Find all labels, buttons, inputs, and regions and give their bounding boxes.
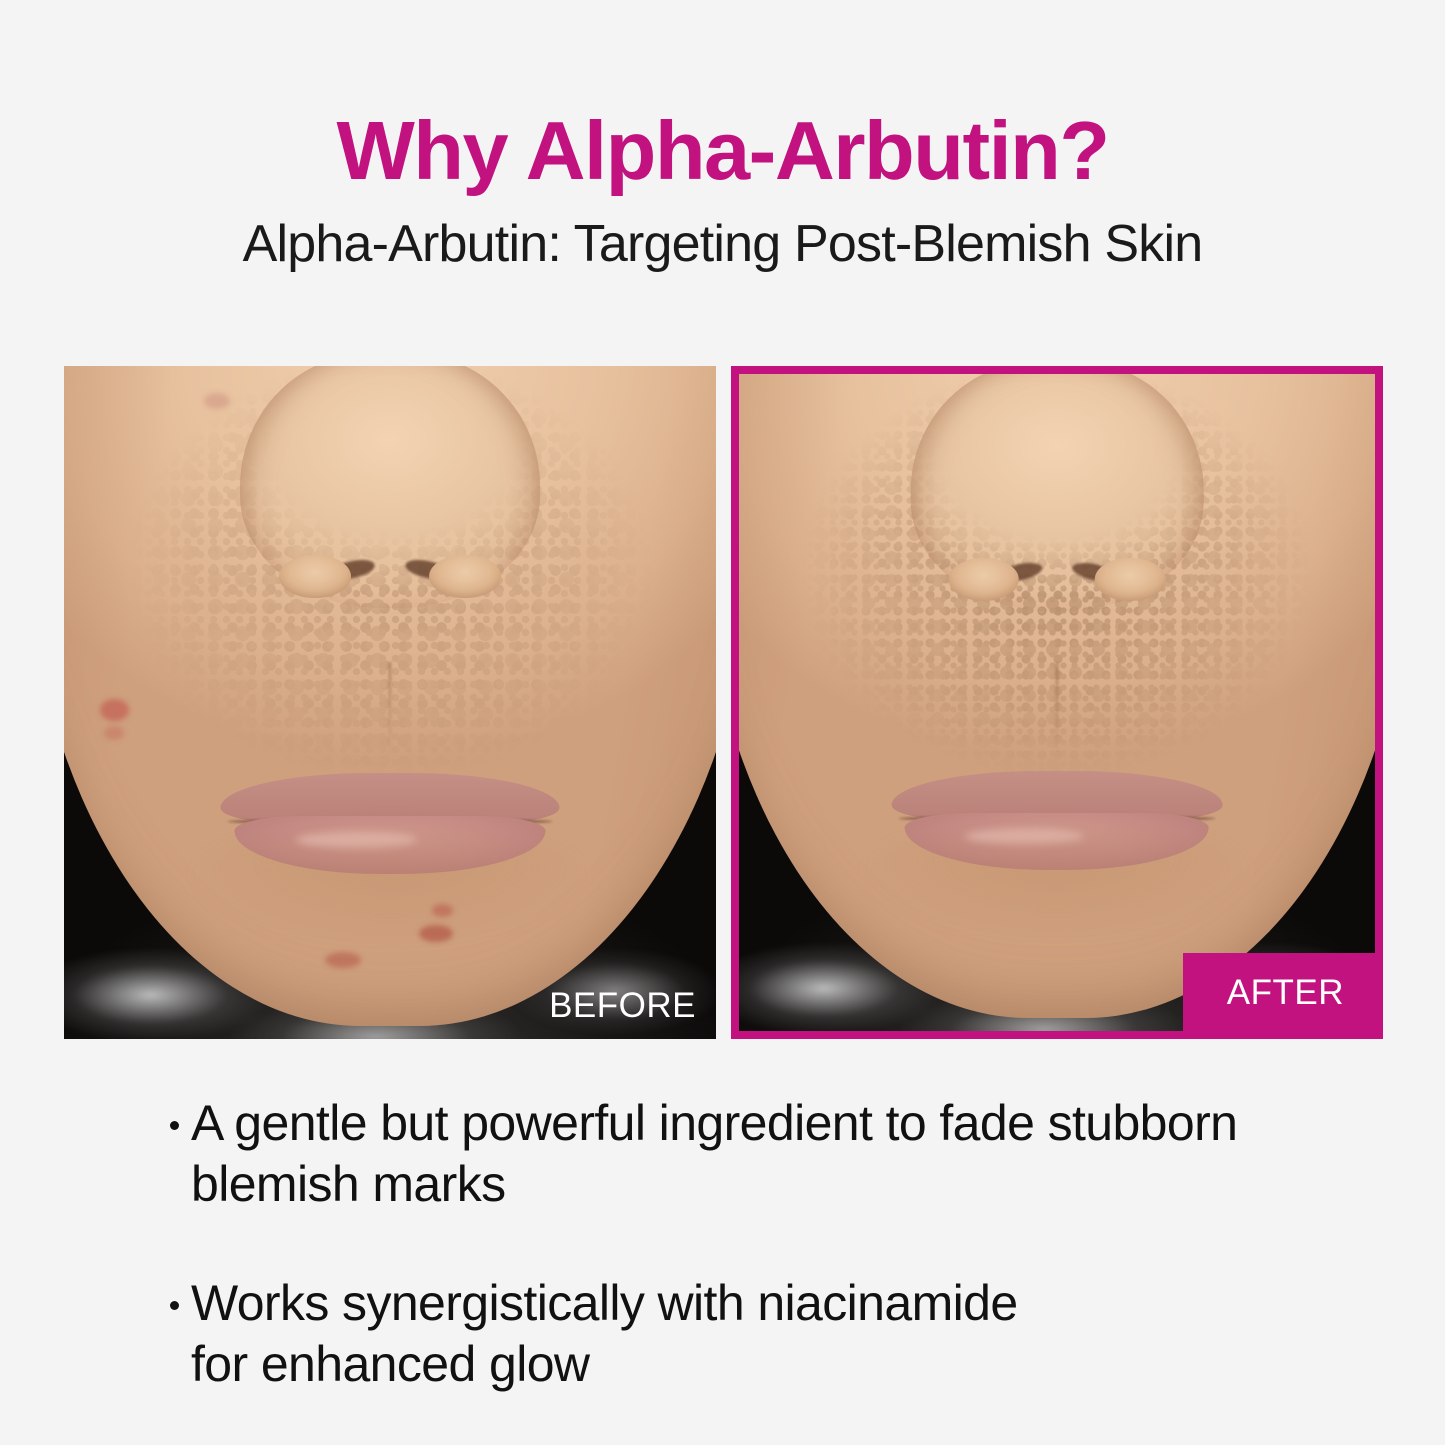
- chin-shadow: [860, 821, 1254, 939]
- blemish-mark: [104, 726, 124, 739]
- page-subtitle: Alpha-Arbutin: Targeting Post-Blemish Sk…: [0, 194, 1445, 273]
- nose-wing-right: [1095, 558, 1165, 600]
- nose-wing-right: [429, 555, 501, 598]
- header: Why Alpha-Arbutin? Alpha-Arbutin: Target…: [0, 0, 1445, 273]
- nose-shape: [240, 366, 540, 608]
- upper-lip: [220, 773, 559, 821]
- chin-shadow: [188, 824, 592, 945]
- before-photo-panel: BEFORE: [64, 366, 716, 1039]
- nose-wing-left: [279, 555, 351, 598]
- bullet-icon: [170, 1301, 179, 1310]
- blemish-mark: [419, 925, 453, 942]
- blemish-mark: [325, 952, 362, 968]
- bullet-icon: [170, 1121, 179, 1130]
- blemish-mark: [432, 904, 453, 916]
- after-photo-image: [739, 374, 1375, 1031]
- before-after-comparison: BEFORE AFTER: [64, 366, 1381, 1039]
- list-item: A gentle but powerful ingredient to fade…: [170, 1093, 1330, 1215]
- nose-wing-left: [949, 558, 1019, 600]
- benefit-text: A gentle but powerful ingredient to fade…: [191, 1093, 1237, 1215]
- before-photo-image: [64, 366, 716, 1039]
- nose-shape: [911, 374, 1204, 611]
- benefits-list: A gentle but powerful ingredient to fade…: [170, 1093, 1330, 1395]
- philtrum-line: [389, 662, 392, 756]
- after-label: AFTER: [1183, 953, 1376, 1032]
- blemish-mark: [100, 699, 129, 721]
- upper-lip: [892, 771, 1223, 818]
- list-item: Works synergistically with niacinamide f…: [170, 1273, 1330, 1395]
- before-label: BEFORE: [549, 988, 696, 1023]
- page-title: Why Alpha-Arbutin?: [0, 0, 1445, 194]
- philtrum-line: [1056, 663, 1059, 755]
- after-photo-panel: AFTER: [731, 366, 1383, 1039]
- benefit-text: Works synergistically with niacinamide f…: [191, 1273, 1018, 1395]
